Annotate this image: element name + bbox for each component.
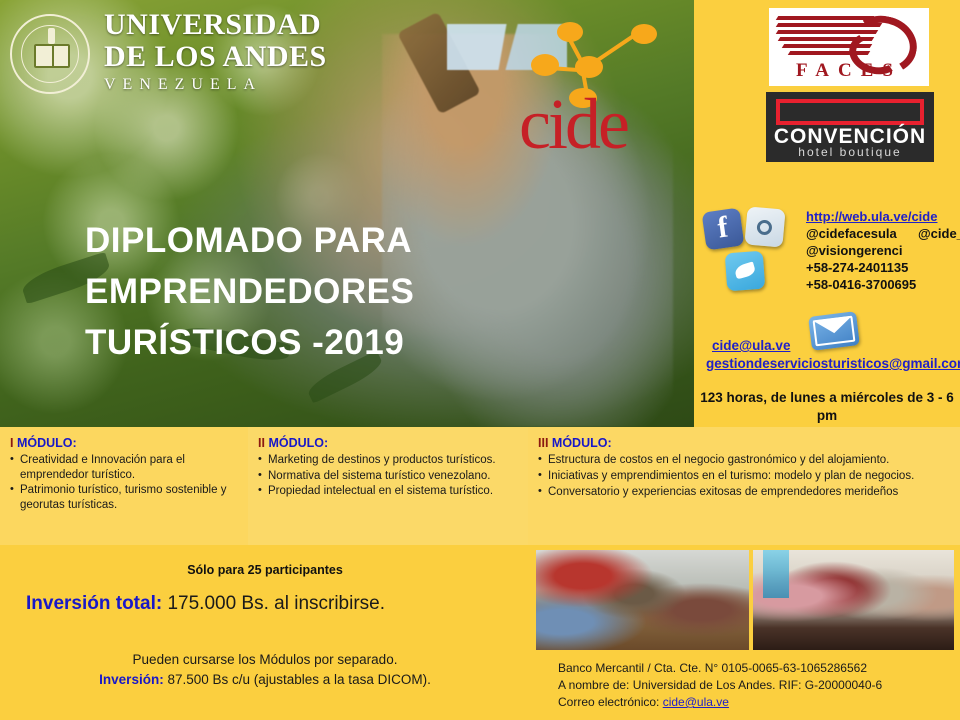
module-3-heading: III MÓDULO: [538,435,952,451]
bank-details: Banco Mercantil / Cta. Cte. N° 0105-0065… [558,660,958,711]
handle-cide-ula[interactable]: @cide_ula [918,226,960,241]
faces-mark-icon [777,14,921,62]
per-module-label: Inversión: [99,672,164,687]
envelope-icon [808,311,860,351]
per-module-note-line2: Inversión: 87.500 Bs c/u (ajustables a l… [0,670,530,690]
social-icons [704,208,800,290]
total-investment-label: Inversión total: [26,593,162,614]
social-text: http://web.ula.ve/cide @cidefacesula @ci… [806,208,960,293]
molecule-node [557,22,583,42]
module-2-number: II [258,436,265,450]
total-investment-row: Inversión total: 175.000 Bs. al inscribi… [26,592,516,616]
torch-icon [48,28,55,44]
photo-workshop-meeting [536,550,749,650]
module-2-label: MÓDULO: [268,436,328,450]
handle-visiongerenci[interactable]: @visiongerenci [806,242,960,259]
social-handles-row: @cidefacesula @cide_ula [806,225,960,242]
hero-banner: UNIVERSIDAD DE LOS ANDES VENEZUELA cide [0,0,694,427]
ula-seal-icon [10,14,90,94]
facebook-icon[interactable] [702,208,745,251]
bank-email-link[interactable]: cide@ula.ve [663,695,729,709]
ula-logo: UNIVERSIDAD DE LOS ANDES VENEZUELA [8,6,408,102]
faces-wordmark: FACES [777,60,921,82]
schedule-hours: 123 horas, de lunes a miércoles de 3 - 6… [694,389,960,425]
module-1-list: Creatividad e Innovación para el emprend… [10,453,240,512]
flag-decor [763,550,789,598]
photo-signing-ceremony [753,550,954,650]
faces-stripe [776,16,874,20]
cide-logo: cide [505,10,685,160]
ula-line-2: DE LOS ANDES [104,42,404,72]
handle-cidefacesula[interactable]: @cidefacesula [806,226,897,241]
per-module-note: Pueden cursarse los Módulos por separado… [0,650,530,690]
cide-wordmark: cide [519,88,627,160]
module-1-number: I [10,436,13,450]
module-2-heading: II MÓDULO: [258,435,520,451]
capacity-note: Sólo para 25 participantes [0,563,530,577]
convencion-tagline: hotel boutique [766,146,934,159]
twitter-icon[interactable] [725,251,766,292]
list-item: Marketing de destinos y productos turíst… [258,453,520,468]
per-module-value: 87.500 Bs c/u (ajustables a la tasa DICO… [167,672,430,687]
list-item: Propiedad intelectual en el sistema turí… [258,484,520,499]
bottom-band: Sólo para 25 participantes Inversión tot… [0,545,960,720]
instagram-icon[interactable] [744,206,785,247]
module-column-1: I MÓDULO: Creatividad e Innovación para … [0,427,248,545]
book-icon [34,44,70,68]
website-link[interactable]: http://web.ula.ve/cide [806,208,960,225]
email-gestion-link[interactable]: gestiondeserviciosturisticos@gmail.com [706,356,960,371]
bank-email-label: Correo electrónico: [558,695,663,709]
convencion-frame [776,99,924,125]
poster-root: UNIVERSIDAD DE LOS ANDES VENEZUELA cide [0,0,960,720]
list-item: Iniciativas y emprendimientos en el turi… [538,469,952,484]
right-info-panel: FACES CONVENCIÓN hotel boutique http://w… [694,0,960,427]
module-1-heading: I MÓDULO: [10,435,240,451]
bank-account-line: Banco Mercantil / Cta. Cte. N° 0105-0065… [558,660,958,677]
faces-logo: FACES [769,8,929,86]
list-item: Patrimonio turístico, turismo sostenible… [10,483,240,512]
ula-line-1: UNIVERSIDAD [104,10,404,40]
module-column-3: III MÓDULO: Estructura de costos en el n… [528,427,960,545]
module-1-label: MÓDULO: [17,436,77,450]
bank-holder-line: A nombre de: Universidad de Los Andes. R… [558,677,958,694]
list-item: Creatividad e Innovación para el emprend… [10,453,240,482]
email-cide-link[interactable]: cide@ula.ve [712,338,790,353]
hero-title: DIPLOMADO PARA EMPRENDEDORES TURÍSTICOS … [85,215,555,368]
phone-mobile: +58-0416-3700695 [806,276,960,293]
photo-collage [530,545,960,655]
module-3-number: III [538,436,548,450]
total-investment-value: 175.000 Bs. al inscribirse. [167,593,385,614]
list-item: Estructura de costos en el negocio gastr… [538,453,952,468]
molecule-node [631,24,657,44]
list-item: Normativa del sistema turístico venezola… [258,469,520,484]
convencion-logo: CONVENCIÓN hotel boutique [766,92,934,162]
hero-title-line-3: TURÍSTICOS -2019 [85,317,555,368]
molecule-node [531,54,559,76]
molecule-node [575,56,603,78]
module-column-2: II MÓDULO: Marketing de destinos y produ… [248,427,528,545]
ula-wordmark: UNIVERSIDAD DE LOS ANDES VENEZUELA [104,10,404,95]
phone-landline: +58-274-2401135 [806,259,960,276]
module-3-label: MÓDULO: [552,436,612,450]
per-module-note-line1: Pueden cursarse los Módulos por separado… [0,650,530,670]
modules-band: I MÓDULO: Creatividad e Innovación para … [0,427,960,545]
list-item: Conversatorio y experiencias exitosas de… [538,485,952,500]
module-3-list: Estructura de costos en el negocio gastr… [538,453,952,500]
module-2-list: Marketing de destinos y productos turíst… [258,453,520,499]
bank-email-line: Correo electrónico: cide@ula.ve [558,694,958,711]
hero-title-line-1: DIPLOMADO PARA [85,215,555,266]
hero-title-line-2: EMPRENDEDORES [85,266,555,317]
ula-line-3: VENEZUELA [104,75,404,95]
